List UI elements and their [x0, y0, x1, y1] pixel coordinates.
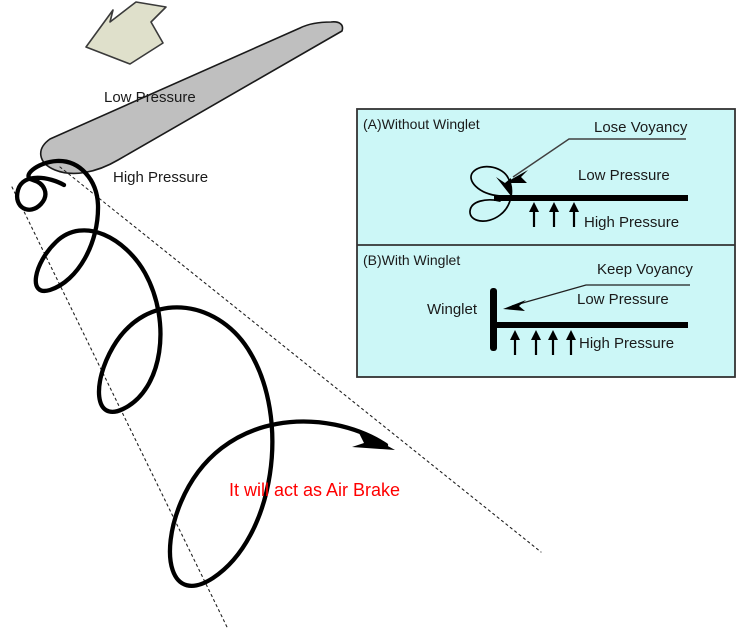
panel-a-title: (A)Without Winglet [363, 117, 480, 131]
inset-box [357, 109, 735, 377]
diagram-canvas: Low Pressure High Pressure It will act a… [0, 0, 742, 629]
inset-panels-layer [0, 0, 742, 629]
panel-b-wing-section [494, 322, 688, 328]
panel-b-winglet-bar [490, 288, 497, 351]
panel-b-winglet-label: Winglet [427, 302, 477, 317]
panel-a-callout-label: Lose Voyancy [594, 120, 687, 135]
panel-a-high-pressure-label: High Pressure [584, 215, 679, 230]
panel-b-callout-label: Keep Voyancy [597, 262, 693, 277]
panel-b-high-pressure-label: High Pressure [579, 336, 674, 351]
panel-b-title: (B)With Winglet [363, 253, 460, 267]
panel-b-low-pressure-label: Low Pressure [577, 292, 669, 307]
panel-a-wing-section [494, 195, 688, 201]
panel-a-low-pressure-label: Low Pressure [578, 168, 670, 183]
